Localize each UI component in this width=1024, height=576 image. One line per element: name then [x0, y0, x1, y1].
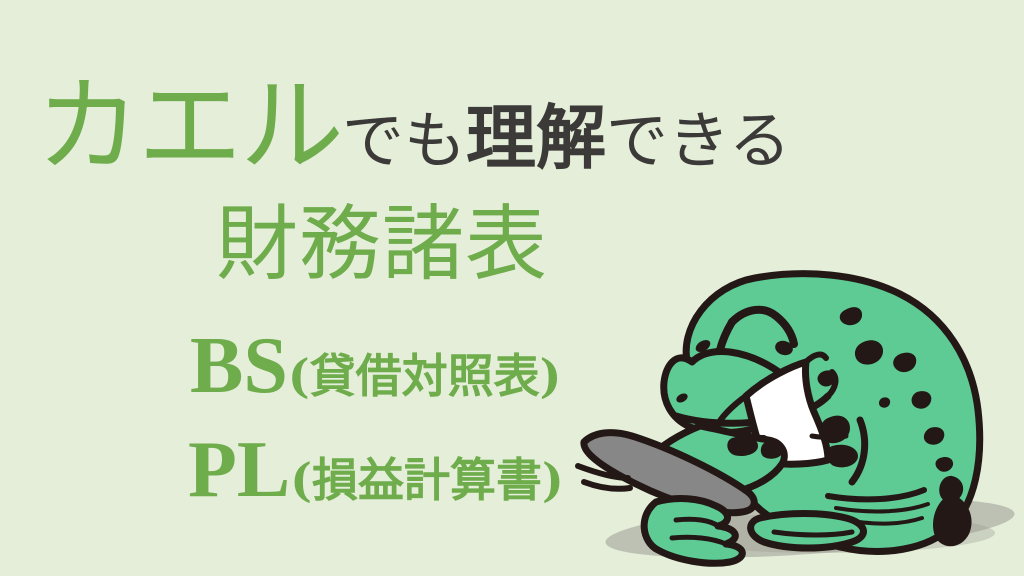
- frog-rear-foot-group: [751, 514, 864, 549]
- headline-line-3: BS(貸借対照表): [190, 326, 561, 406]
- headline-text-demo: でも: [342, 104, 466, 177]
- headline-line-4: PL(損益計算書): [188, 430, 564, 510]
- headline-line-1: カエルでも理解できる: [36, 74, 791, 178]
- abbr-bs-japanese: (貸借対照表): [288, 349, 562, 403]
- headline-text-zaimushohyo: 財務諸表: [216, 197, 548, 292]
- headline-text-dekiru: できる: [606, 104, 791, 177]
- headline-text-rikai: 理解: [466, 96, 606, 179]
- slide-canvas: カエルでも理解できる 財務諸表 BS(貸借対照表) PL(損益計算書): [0, 0, 1024, 576]
- frog-toe: [584, 482, 630, 489]
- headline-line-2: 財務諸表: [216, 204, 548, 286]
- frog-finger-line: [812, 436, 846, 438]
- frog-illustration: [560, 250, 1024, 576]
- abbr-bs: BS: [190, 322, 288, 410]
- abbr-pl-japanese: (損益計算書): [290, 453, 564, 507]
- headline-highlight-kaeru: カエル: [36, 65, 342, 187]
- abbr-pl: PL: [188, 426, 290, 514]
